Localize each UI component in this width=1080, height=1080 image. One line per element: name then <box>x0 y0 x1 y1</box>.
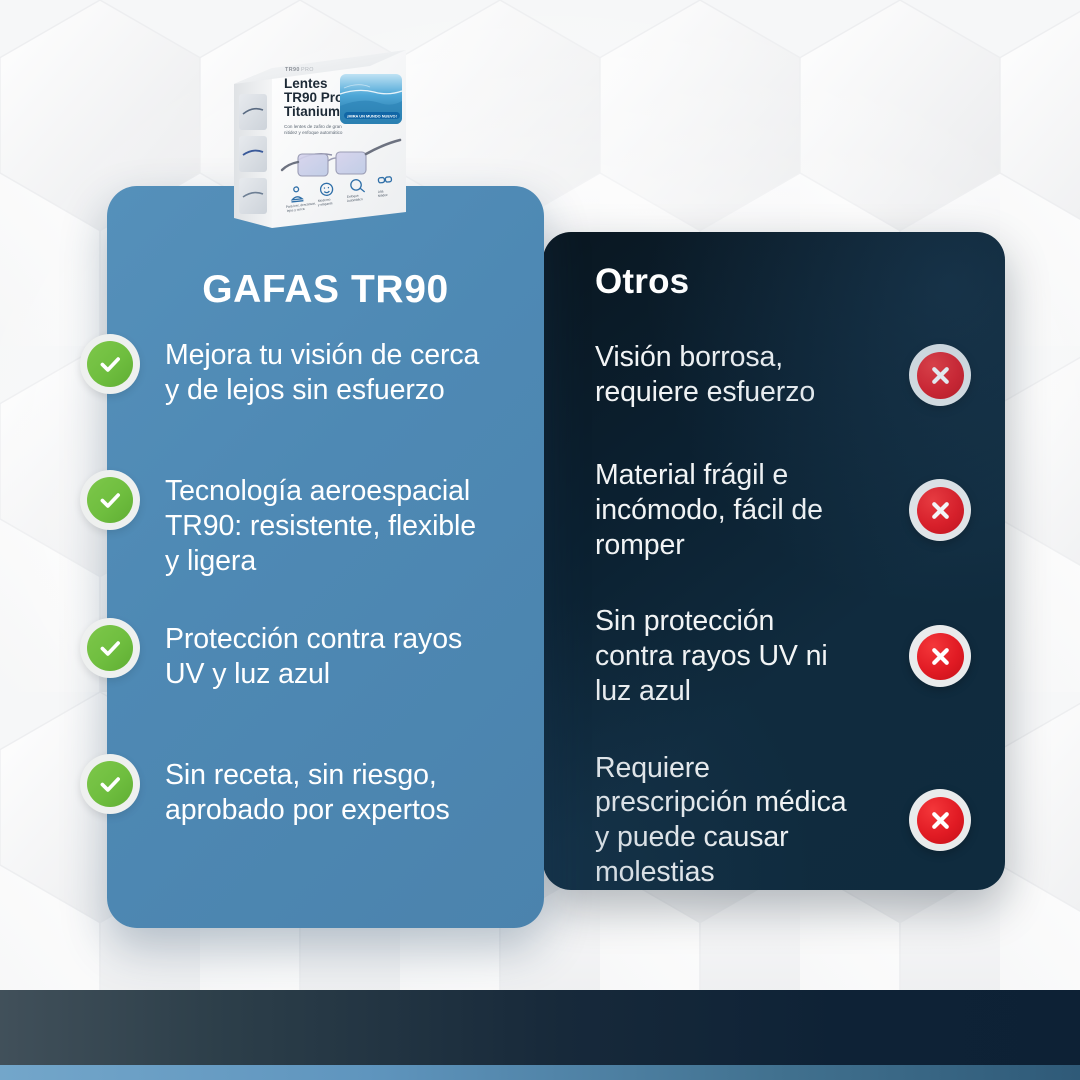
others-comparison-card: Otros Visión borrosa, requiere esfuerzo … <box>543 232 1005 890</box>
svg-text:TR90: TR90 <box>285 67 300 73</box>
bottom-blue-accent-bar <box>0 1065 1080 1080</box>
list-item: Mejora tu visión de cerca y de lejos sin… <box>107 338 544 430</box>
list-item-label: Sin receta, sin riesgo, aprobado por exp… <box>165 759 450 826</box>
x-circle-icon <box>909 625 971 687</box>
list-item-label: Material frágil e incómodo, fácil de rom… <box>595 458 823 562</box>
x-circle-icon <box>909 479 971 541</box>
list-item-label: Visión borrosa, requiere esfuerzo <box>595 340 815 410</box>
check-circle-icon <box>80 618 140 678</box>
list-item-label: Tecnología aeroespacial TR90: resistente… <box>165 475 476 577</box>
list-item: Sin receta, sin riesgo, aprobado por exp… <box>107 758 544 850</box>
list-item-label: Protección contra rayos UV y luz azul <box>165 623 462 690</box>
list-item: Requiere prescripción médica y puede cau… <box>595 751 979 890</box>
list-item: Material frágil e incómodo, fácil de rom… <box>595 458 979 562</box>
comparison-infographic: TR90 PRO Lentes TR90 Pro Titanium Con le… <box>0 0 1080 1080</box>
list-item: Sin protección contra rayos UV ni luz az… <box>595 604 979 708</box>
list-item-label: Mejora tu visión de cerca y de lejos sin… <box>165 339 479 406</box>
others-card-title: Otros <box>595 262 689 302</box>
check-circle-icon <box>80 334 140 394</box>
svg-text:nitidez y enfoque automático: nitidez y enfoque automático <box>284 130 343 135</box>
svg-text:TR90 Pro: TR90 Pro <box>284 90 343 105</box>
product-feature-list: Mejora tu visión de cerca y de lejos sin… <box>107 338 544 894</box>
list-item-label: Sin protección contra rayos UV ni luz az… <box>595 604 828 708</box>
svg-text:PRO: PRO <box>301 67 314 73</box>
check-circle-icon <box>80 754 140 814</box>
svg-text:Titanium: Titanium <box>284 104 340 119</box>
x-circle-icon <box>909 344 971 406</box>
svg-text:Con lentes de zafiro de gran: Con lentes de zafiro de gran <box>284 124 342 129</box>
x-circle-icon <box>909 789 971 851</box>
product-comparison-card: GAFAS TR90 Mejora tu visión de cerca y d… <box>107 186 544 928</box>
list-item-label: Requiere prescripción médica y puede cau… <box>595 751 847 890</box>
list-item: Protección contra rayos UV y luz azul <box>107 622 544 714</box>
others-feature-list: Visión borrosa, requiere esfuerzo Materi… <box>595 334 979 890</box>
product-box-image: TR90 PRO Lentes TR90 Pro Titanium Con le… <box>228 42 424 242</box>
check-circle-icon <box>80 470 140 530</box>
svg-text:Lentes: Lentes <box>284 76 328 91</box>
list-item: Visión borrosa, requiere esfuerzo <box>595 334 979 416</box>
svg-text:¡MIRA UN MUNDO NUEVO!: ¡MIRA UN MUNDO NUEVO! <box>347 113 397 118</box>
list-item: Tecnología aeroespacial TR90: resistente… <box>107 474 544 578</box>
bottom-dark-bar <box>0 990 1080 1065</box>
product-card-title: GAFAS TR90 <box>107 268 544 312</box>
